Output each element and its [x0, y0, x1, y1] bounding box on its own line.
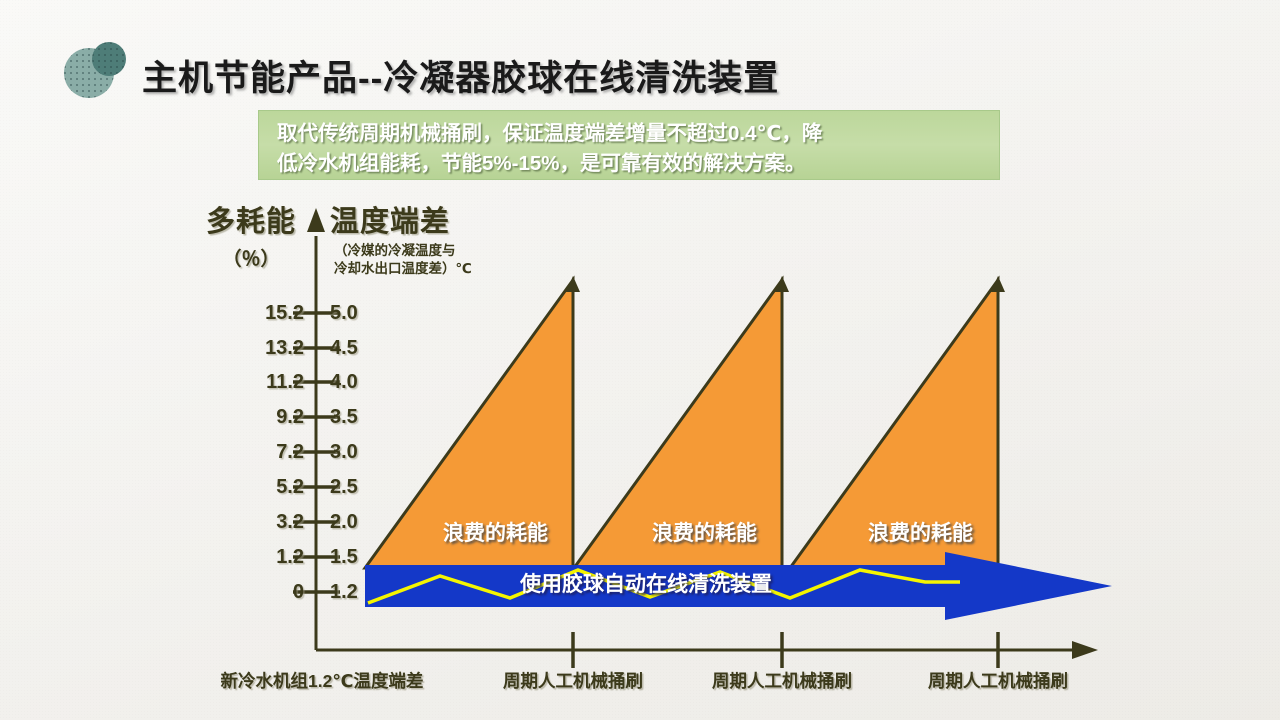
- waste-label-3: 浪费的耗能: [838, 517, 1003, 547]
- chart-canvas: [0, 0, 1280, 720]
- y-right-tick-5: 2.5: [330, 476, 390, 499]
- triangle-apex-arrows: [566, 276, 1005, 292]
- y-left-tick-7: 1.2: [218, 546, 304, 569]
- y-right-tick-0: 5.0: [330, 302, 390, 325]
- y-left-tick-2: 11.2: [218, 371, 304, 394]
- y-left-tick-1: 13.2: [218, 337, 304, 360]
- waste-label-2: 浪费的耗能: [622, 517, 787, 547]
- y-axis-arrowhead: [307, 208, 325, 232]
- y-right-tick-3: 3.5: [330, 406, 390, 429]
- waste-label-1: 浪费的耗能: [413, 517, 578, 547]
- y-right-tick-6: 2.0: [330, 511, 390, 534]
- y-left-tick-5: 5.2: [218, 476, 304, 499]
- cleaning-device-label: 使用胶球自动在线清洗装置: [520, 568, 772, 598]
- y-right-tick-8: 1.2: [330, 581, 390, 604]
- y-left-tick-3: 9.2: [218, 406, 304, 429]
- x-category-label-1: 周期人工机械捅刷: [498, 668, 648, 693]
- y-left-tick-6: 3.2: [218, 511, 304, 534]
- y-right-tick-1: 4.5: [330, 337, 390, 360]
- x-axis-arrowhead: [1072, 641, 1098, 659]
- x-category-label-3: 周期人工机械捅刷: [923, 668, 1073, 693]
- y-left-tick-8: 0: [218, 581, 304, 604]
- y-left-tick-4: 7.2: [218, 441, 304, 464]
- y-right-tick-4: 3.0: [330, 441, 390, 464]
- y-right-tick-7: 1.5: [330, 546, 390, 569]
- y-right-tick-2: 4.0: [330, 371, 390, 394]
- x-category-label-2: 周期人工机械捅刷: [707, 668, 857, 693]
- y-left-tick-0: 15.2: [218, 302, 304, 325]
- x-category-label-0: 新冷水机组1.2℃温度端差: [182, 668, 462, 693]
